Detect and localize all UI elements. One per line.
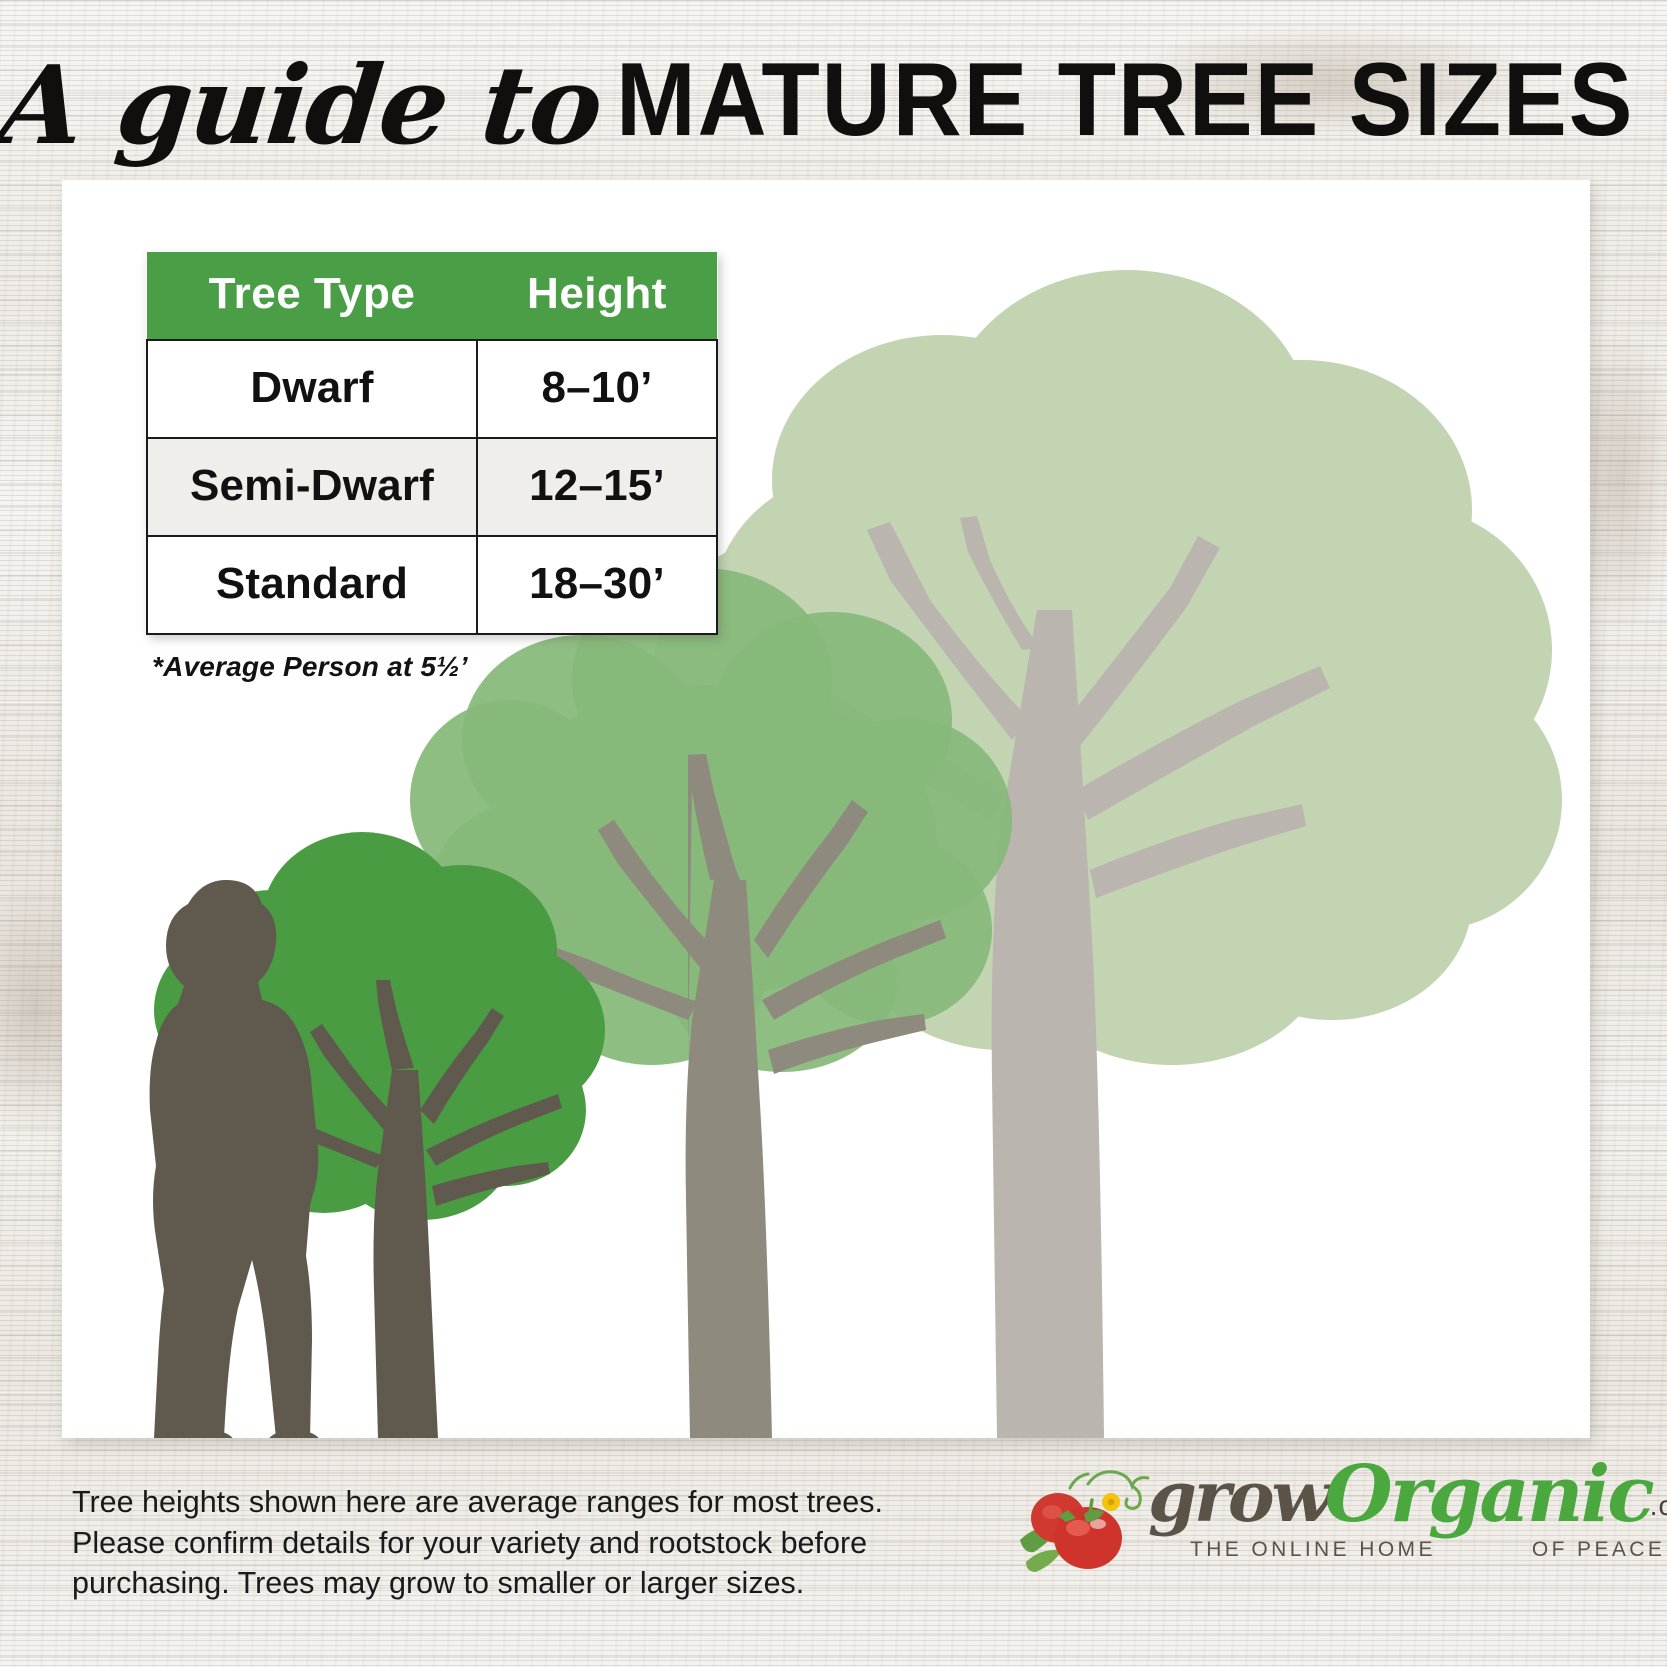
column-header-tree-type: Tree Type xyxy=(147,252,477,340)
infographic-canvas: A guide toMATURE TREE SIZES xyxy=(0,0,1667,1667)
page-title-block: MATURE TREE SIZES xyxy=(616,48,1634,152)
tomato-illustration-icon xyxy=(1010,1462,1160,1580)
table-row: Semi-Dwarf 12–15’ xyxy=(147,438,717,536)
disclaimer-text: Tree heights shown here are average rang… xyxy=(72,1482,972,1604)
brand-tagline-left: THE ONLINE HOME xyxy=(1190,1538,1436,1561)
brand-grow-text: grow xyxy=(1148,1455,1329,1538)
cell-height: 12–15’ xyxy=(477,438,717,536)
cell-tree-type: Standard xyxy=(147,536,477,634)
table-header-row: Tree Type Height xyxy=(147,252,717,340)
tree-size-table: Tree Type Height Dwarf 8–10’ Semi-Dwarf … xyxy=(146,252,718,635)
white-card: Tree Type Height Dwarf 8–10’ Semi-Dwarf … xyxy=(62,180,1590,1438)
page-title-script: A guide to xyxy=(0,52,606,160)
page-title: A guide toMATURE TREE SIZES xyxy=(0,48,1667,160)
brand-dotcom-text: .com xyxy=(1650,1490,1667,1521)
column-header-height: Height xyxy=(477,252,717,340)
table-row: Dwarf 8–10’ xyxy=(147,340,717,438)
cell-height: 18–30’ xyxy=(477,536,717,634)
cell-height: 8–10’ xyxy=(477,340,717,438)
brand-tagline-right: OF PEACEFUL VALLEY xyxy=(1532,1538,1667,1561)
table-row: Standard 18–30’ xyxy=(147,536,717,634)
footnote-average-person: *Average Person at 5½’ xyxy=(152,651,468,683)
brand-tagline: THE ONLINE HOMEOF PEACEFUL VALLEY xyxy=(1190,1538,1667,1562)
brand-wordmark: growOrganic.com xyxy=(1148,1456,1667,1534)
brand-logo[interactable]: growOrganic.com THE ONLINE HOMEOF PEACEF… xyxy=(1000,1440,1600,1590)
cell-tree-type: Semi-Dwarf xyxy=(147,438,477,536)
cell-tree-type: Dwarf xyxy=(147,340,477,438)
brand-organic-text: Organic xyxy=(1325,1449,1652,1540)
tree-size-table-wrapper: Tree Type Height Dwarf 8–10’ Semi-Dwarf … xyxy=(146,252,718,635)
